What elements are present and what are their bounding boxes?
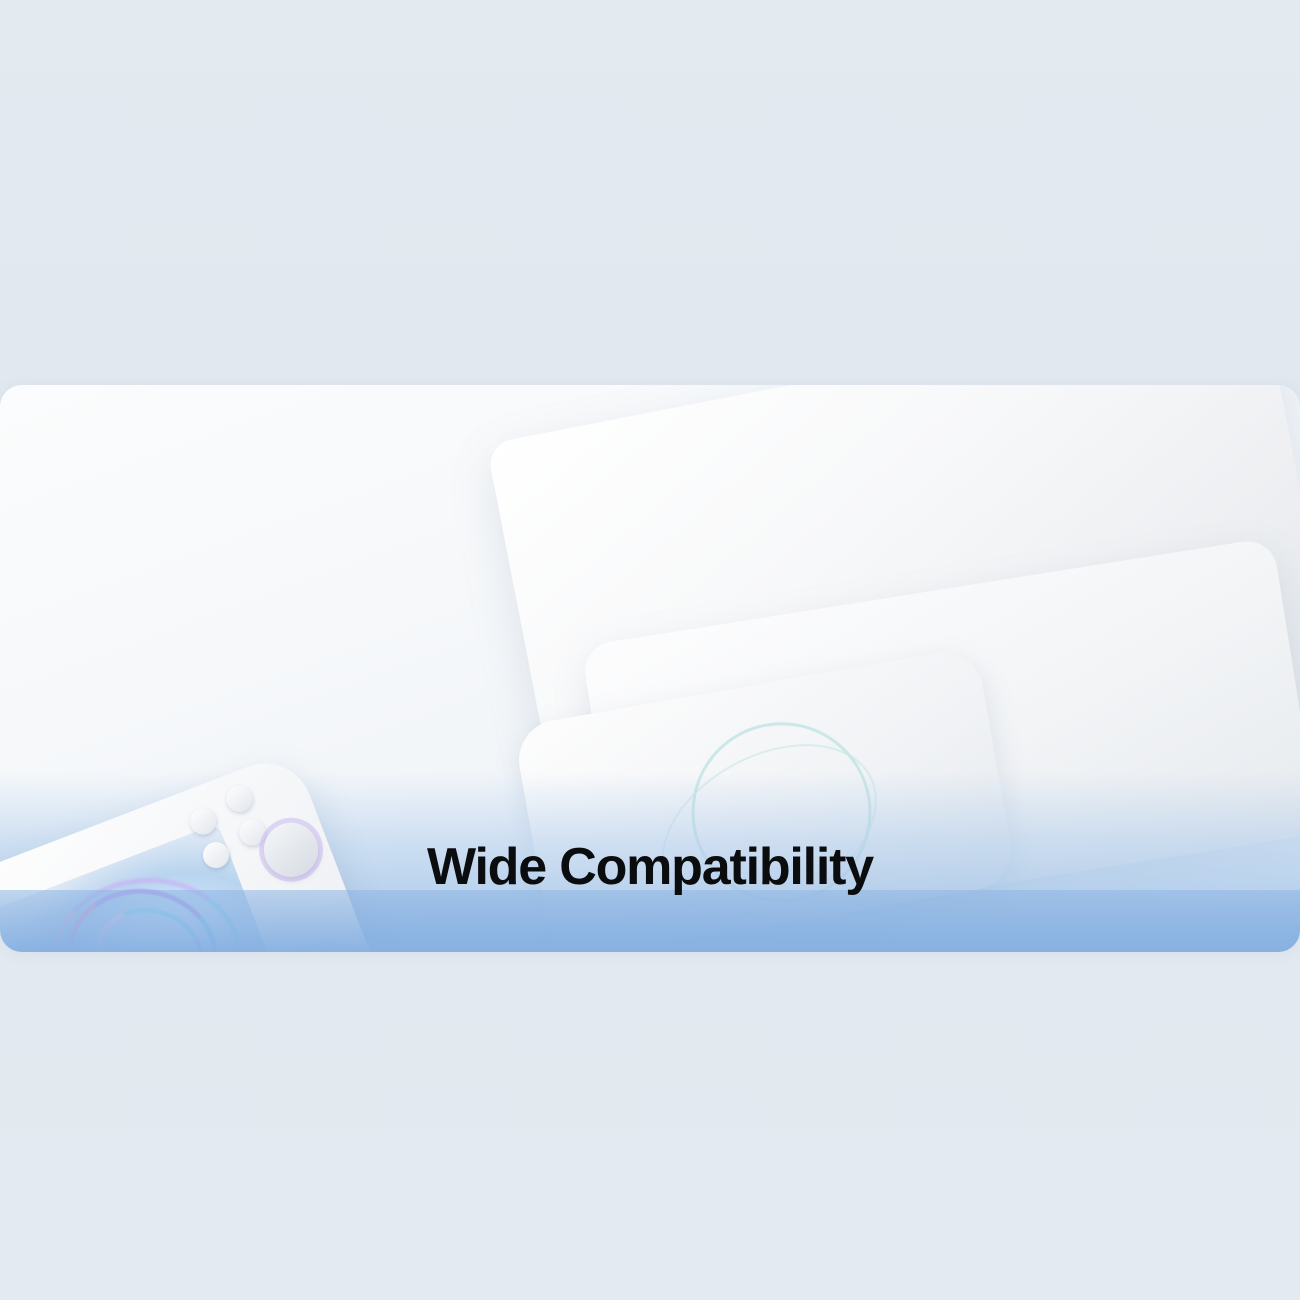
- page-title: Wide Compatibility: [0, 837, 1300, 897]
- compatibility-card: 10 09: [0, 385, 1300, 952]
- floor-blue-band: [0, 890, 1300, 952]
- poster-stage: 10 09: [0, 0, 1300, 1300]
